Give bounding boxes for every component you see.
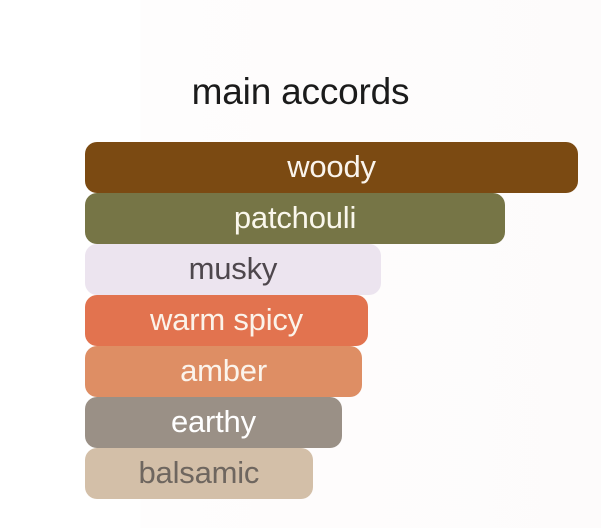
accord-bar-earthy[interactable]: earthy xyxy=(85,397,342,448)
main-accords-chart: main accords woodypatchoulimuskywarm spi… xyxy=(0,0,601,528)
accord-bar-label: earthy xyxy=(171,406,256,439)
accord-bar-row: woody xyxy=(85,142,585,193)
accord-bar-woody[interactable]: woody xyxy=(85,142,578,193)
accord-bar-warm-spicy[interactable]: warm spicy xyxy=(85,295,368,346)
accord-bar-patchouli[interactable]: patchouli xyxy=(85,193,505,244)
accord-bar-row: earthy xyxy=(85,397,585,448)
accord-bar-row: patchouli xyxy=(85,193,585,244)
accord-bar-label: woody xyxy=(287,151,376,184)
accord-bar-list: woodypatchoulimuskywarm spicyamberearthy… xyxy=(85,142,585,502)
accord-bar-label: amber xyxy=(180,355,267,388)
accord-bar-row: warm spicy xyxy=(85,295,585,346)
accord-bar-musky[interactable]: musky xyxy=(85,244,381,295)
accord-bar-row: musky xyxy=(85,244,585,295)
accord-bar-row: balsamic xyxy=(85,448,585,499)
accord-bar-amber[interactable]: amber xyxy=(85,346,362,397)
chart-title: main accords xyxy=(0,70,601,114)
accord-bar-label: musky xyxy=(189,253,278,286)
accord-bar-label: warm spicy xyxy=(150,304,303,337)
accord-bar-label: patchouli xyxy=(234,202,356,235)
accord-bar-balsamic[interactable]: balsamic xyxy=(85,448,313,499)
accord-bar-row: amber xyxy=(85,346,585,397)
accord-bar-label: balsamic xyxy=(139,457,260,490)
